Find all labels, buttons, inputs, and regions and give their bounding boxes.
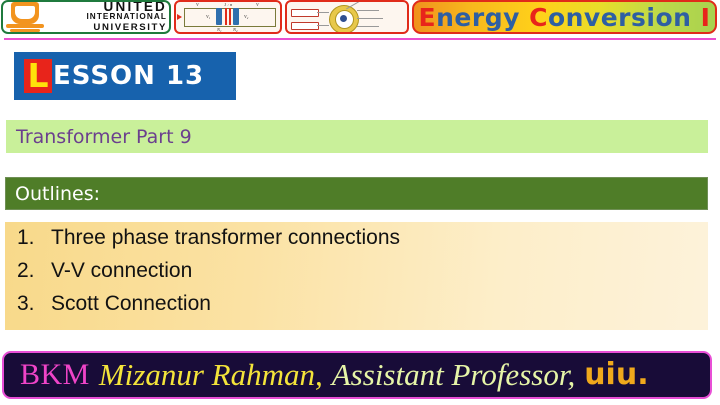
outlines-heading-bar: Outlines: [5, 177, 708, 210]
list-item: 2. V-V connection [5, 259, 708, 292]
university-logo: UNITED INTERNATIONAL UNIVERSITY [1, 0, 171, 34]
course-title-seg-1: E [419, 3, 437, 32]
footer-organization: uiu. [584, 355, 648, 395]
list-item-number: 1. [5, 226, 51, 250]
course-title-text: Energy Conversion I [419, 3, 711, 32]
footer-instructor-name: Mizanur Rahman, [99, 355, 323, 395]
university-logo-text: UNITED INTERNATIONAL UNIVERSITY [47, 1, 169, 33]
list-item-label: Scott Connection [51, 292, 708, 316]
lesson-initial-badge: L [24, 59, 52, 93]
subtitle-bar: Transformer Part 9 [6, 120, 708, 153]
logo-line-international: INTERNATIONAL [47, 12, 167, 22]
transformer-circuit-thumbnail: V 1 : n V V₁ V₂ N₁ N₂ [174, 0, 282, 34]
logo-line-united: UNITED [47, 1, 167, 12]
outline-list: 1. Three phase transformer connections 2… [5, 222, 708, 330]
list-item-number: 2. [5, 259, 51, 283]
course-title-seg-2: nergy [436, 3, 529, 32]
course-title-seg-5: I [701, 3, 711, 32]
logo-line-university: UNIVERSITY [47, 22, 167, 33]
list-item-number: 3. [5, 292, 51, 316]
machine-cross-section-thumbnail [285, 0, 409, 34]
outlines-heading-text: Outlines: [15, 183, 100, 205]
course-title-banner: Energy Conversion I [412, 0, 717, 34]
footer-instructor-role: Assistant Professor, [332, 355, 575, 395]
course-title-seg-4: onversion [548, 3, 701, 32]
footer-bar: BKM Mizanur Rahman, Assistant Professor,… [2, 351, 712, 399]
header-divider-rule [4, 38, 716, 40]
footer-prefix: BKM [20, 355, 90, 395]
header-strip: UNITED INTERNATIONAL UNIVERSITY V 1 : n … [0, 0, 720, 36]
list-item: 1. Three phase transformer connections [5, 226, 708, 259]
list-item-label: V-V connection [51, 259, 708, 283]
lesson-banner: L ESSON 13 [14, 52, 236, 100]
uiu-crest-icon [3, 1, 47, 33]
list-item: 3. Scott Connection [5, 292, 708, 325]
lesson-title-text: ESSON 13 [53, 61, 204, 91]
course-title-seg-3: C [529, 3, 548, 32]
lesson-initial-letter: L [27, 61, 48, 91]
subtitle-text: Transformer Part 9 [16, 126, 192, 148]
list-item-label: Three phase transformer connections [51, 226, 708, 250]
